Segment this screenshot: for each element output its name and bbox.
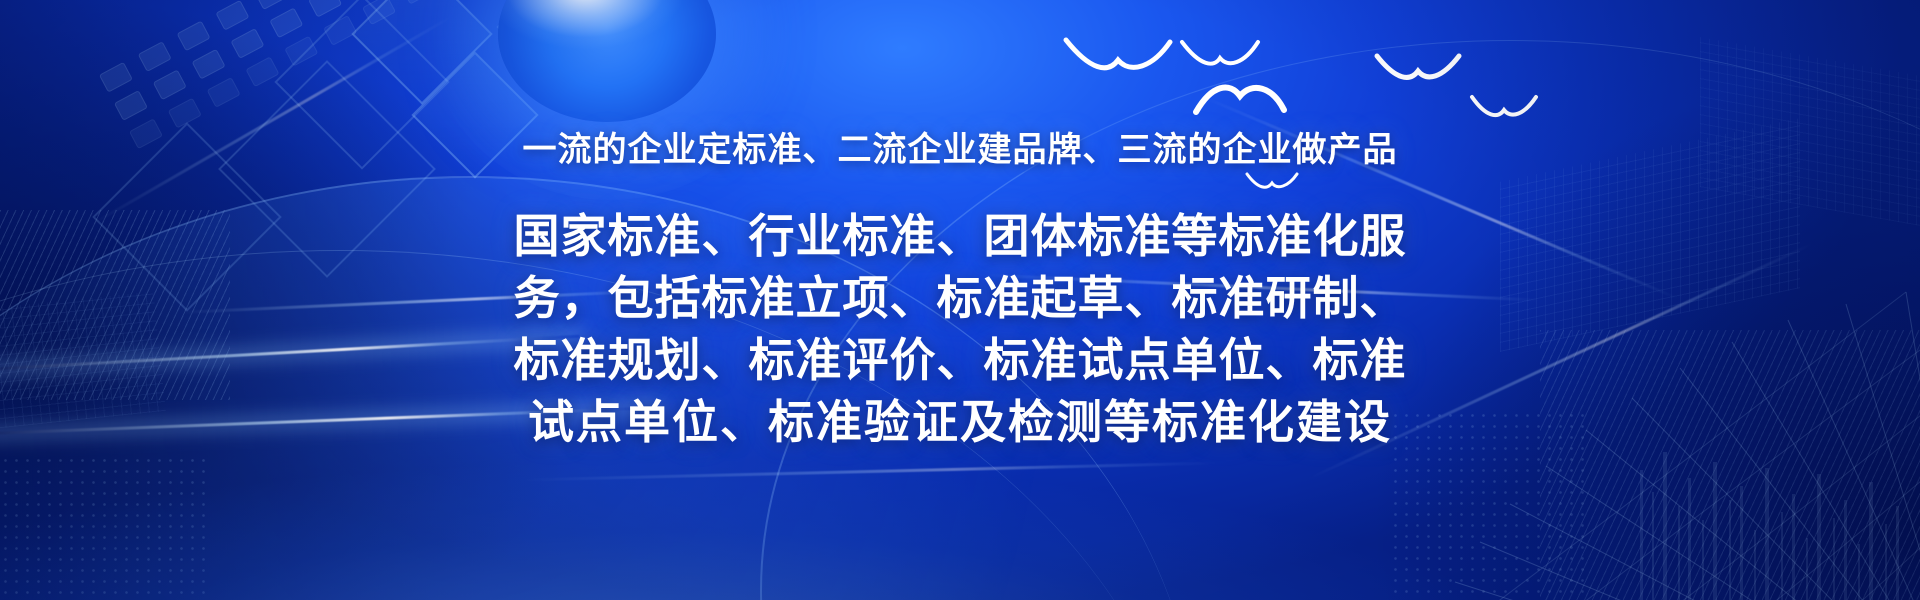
banner-content: 一流的企业定标准、二流企业建品牌、三流的企业做产品 国家标准、行业标准、团体标准…	[0, 0, 1920, 600]
banner-body-line: 标准规划、标准评价、标准试点单位、标准	[445, 329, 1475, 391]
hero-banner: 一流的企业定标准、二流企业建品牌、三流的企业做产品 国家标准、行业标准、团体标准…	[0, 0, 1920, 600]
banner-body: 国家标准、行业标准、团体标准等标准化服 务，包括标准立项、标准起草、标准研制、 …	[445, 205, 1475, 453]
banner-body-line: 国家标准、行业标准、团体标准等标准化服	[445, 205, 1475, 267]
banner-body-line: 务，包括标准立项、标准起草、标准研制、	[445, 267, 1475, 329]
banner-headline: 一流的企业定标准、二流企业建品牌、三流的企业做产品	[523, 122, 1398, 171]
banner-body-line: 试点单位、标准验证及检测等标准化建设	[445, 391, 1475, 453]
